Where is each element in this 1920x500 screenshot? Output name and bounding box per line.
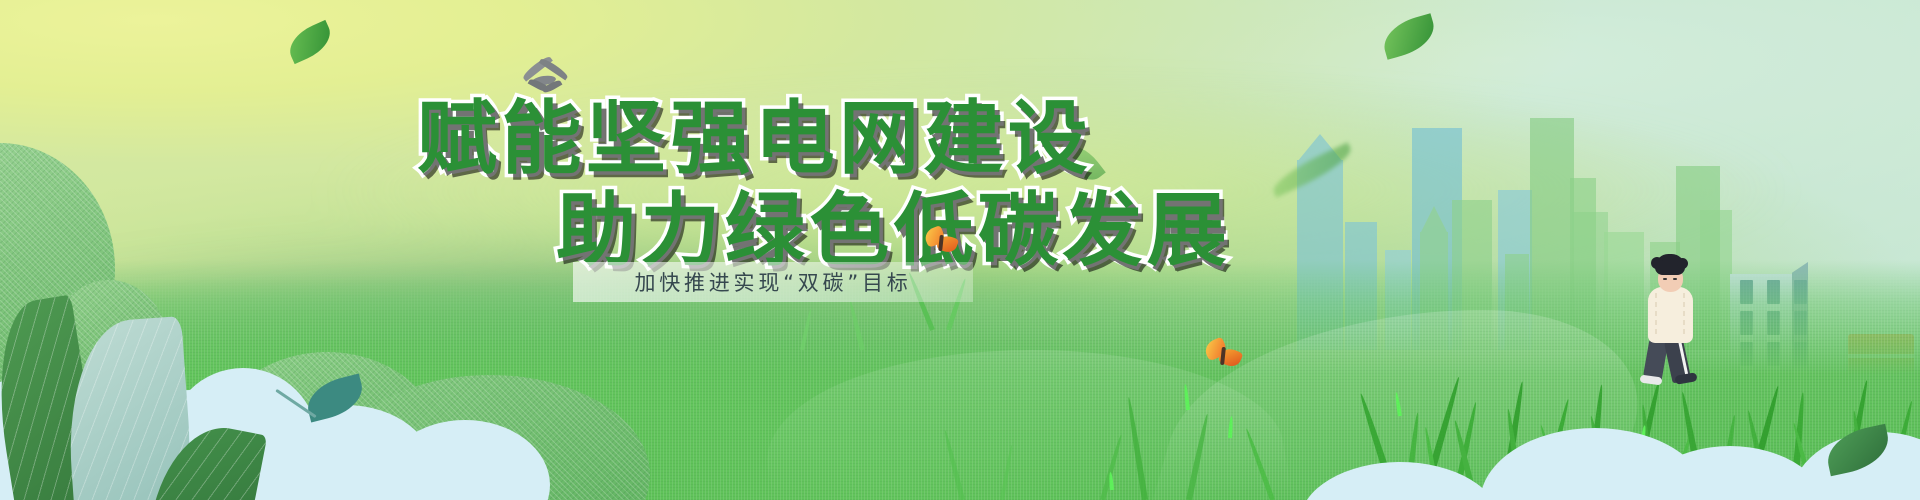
- foreground-clouds: [0, 0, 1920, 500]
- cloud-foreground-4: [1300, 462, 1500, 500]
- green-energy-banner: 赋能坚强电网建设 助力绿色低碳发展 加快推进实现“双碳”目标: [0, 0, 1920, 500]
